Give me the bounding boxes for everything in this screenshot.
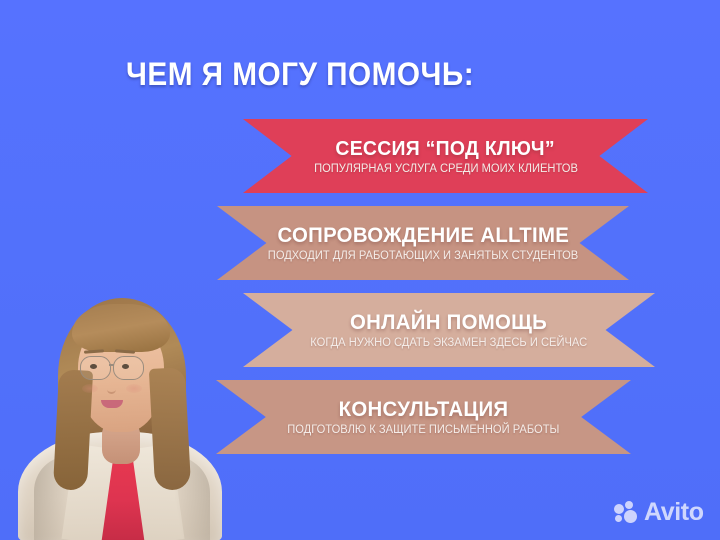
page-title: ЧЕМ Я МОГУ ПОМОЧЬ:	[126, 56, 474, 93]
hair-strand-right	[149, 367, 191, 491]
service-ribbon-1[interactable]: СЕССИЯ “ПОД КЛЮЧ” ПОПУЛЯРНАЯ УСЛУГА СРЕД…	[243, 119, 648, 193]
service-title: СЕССИЯ “ПОД КЛЮЧ”	[336, 138, 555, 161]
nose	[107, 380, 116, 394]
hair-fringe	[72, 304, 170, 352]
cheek-right	[126, 384, 142, 393]
avito-watermark: Avito	[614, 500, 704, 525]
avito-wordmark: Avito	[644, 500, 704, 525]
portrait-photo	[16, 280, 224, 540]
cheek-left	[82, 384, 98, 393]
glasses-lens-right	[113, 356, 144, 380]
avito-dots-icon	[614, 501, 639, 524]
service-subtitle: ПОДХОДИТ ДЛЯ РАБОТАЮЩИХ И ЗАНЯТЫХ СТУДЕН…	[268, 250, 578, 262]
service-ribbon-2[interactable]: СОПРОВОЖДЕНИЕ ALLTIME ПОДХОДИТ ДЛЯ РАБОТ…	[217, 206, 629, 280]
service-subtitle: ПОДГОТОВЛЮ К ЗАЩИТЕ ПИСЬМЕННОЙ РАБОТЫ	[287, 424, 559, 436]
service-subtitle: КОГДА НУЖНО СДАТЬ ЭКЗАМЕН ЗДЕСЬ И СЕЙЧАС	[311, 337, 588, 349]
promo-image: ЧЕМ Я МОГУ ПОМОЧЬ: СЕССИЯ “ПОД КЛЮЧ” ПОП…	[0, 0, 720, 540]
service-title: СОПРОВОЖДЕНИЕ ALLTIME	[277, 224, 569, 248]
service-subtitle: ПОПУЛЯРНАЯ УСЛУГА СРЕДИ МОИХ КЛИЕНТОВ	[314, 163, 578, 175]
service-title: ОНЛАЙН ПОМОЩЬ	[350, 311, 547, 335]
glasses-bridge	[109, 364, 114, 366]
service-ribbon-4[interactable]: КОНСУЛЬТАЦИЯ ПОДГОТОВЛЮ К ЗАЩИТЕ ПИСЬМЕН…	[216, 380, 631, 454]
service-title: КОНСУЛЬТАЦИЯ	[339, 398, 509, 422]
glasses-lens-left	[80, 356, 111, 380]
service-ribbon-3[interactable]: ОНЛАЙН ПОМОЩЬ КОГДА НУЖНО СДАТЬ ЭКЗАМЕН …	[243, 293, 655, 367]
